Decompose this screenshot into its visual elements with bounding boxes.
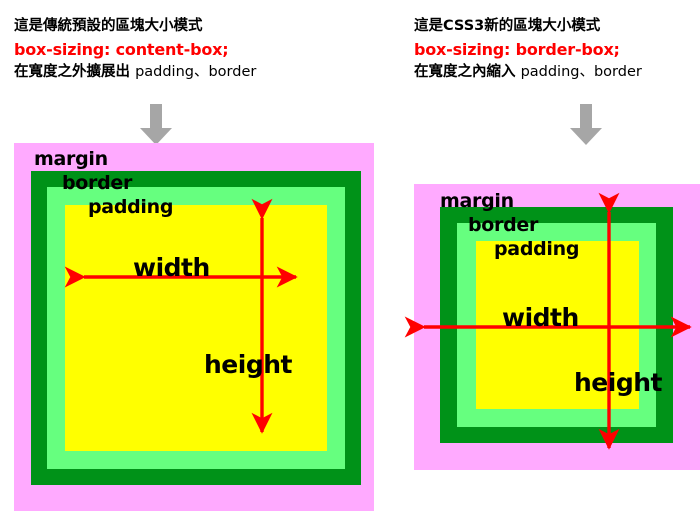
- caption-left-line3-bold: 在寬度之外擴展出: [14, 64, 130, 80]
- label-margin: margin: [440, 190, 514, 212]
- caption-right-line1: 這是CSS3新的區塊大小模式: [414, 16, 642, 38]
- label-margin: margin: [34, 148, 108, 170]
- border-region-content-box: [31, 171, 361, 485]
- content-region-content-box: [65, 205, 327, 451]
- label-height: height: [204, 350, 292, 379]
- caption-border-box: 這是CSS3新的區塊大小模式 box-sizing: border-box; 在…: [414, 16, 642, 84]
- caption-left-line3-plain: padding、border: [135, 64, 256, 80]
- label-width: width: [502, 303, 579, 332]
- gray-down-arrow-icon: [139, 104, 173, 146]
- label-height: height: [574, 368, 662, 397]
- caption-right-line3-bold: 在寬度之內縮入: [414, 64, 516, 80]
- caption-right-code: box-sizing: border-box;: [414, 38, 642, 62]
- caption-content-box: 這是傳統預設的區塊大小模式 box-sizing: content-box; 在…: [14, 16, 256, 84]
- label-padding: padding: [88, 196, 173, 218]
- caption-left-code: box-sizing: content-box;: [14, 38, 256, 62]
- label-width: width: [133, 253, 210, 282]
- caption-left-line3: 在寬度之外擴展出 padding、border: [14, 62, 256, 84]
- label-border: border: [62, 172, 132, 194]
- caption-right-line3-plain: padding、border: [521, 64, 642, 80]
- caption-right-line3: 在寬度之內縮入 padding、border: [414, 62, 642, 84]
- caption-left-line1: 這是傳統預設的區塊大小模式: [14, 16, 256, 38]
- gray-down-arrow-icon: [569, 104, 603, 146]
- margin-region-content-box: [14, 143, 374, 511]
- padding-region-content-box: [47, 187, 345, 469]
- label-border: border: [468, 214, 538, 236]
- label-padding: padding: [494, 238, 579, 260]
